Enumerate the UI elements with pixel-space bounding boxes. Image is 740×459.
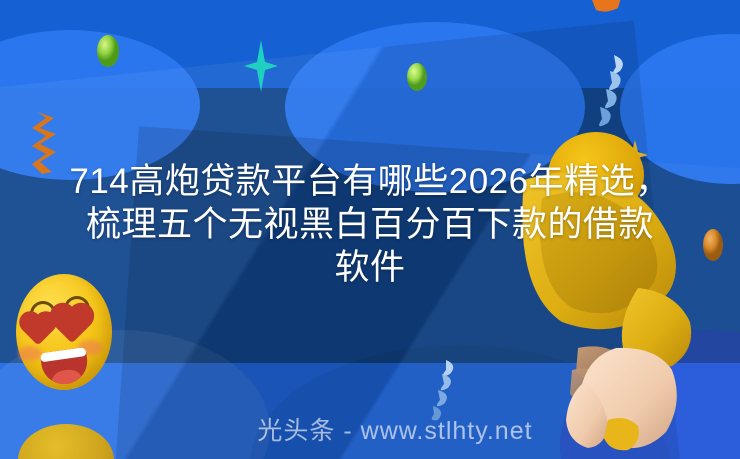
emoji-heart-eye-right bbox=[54, 307, 91, 344]
title-line-2: 梳理五个无视黑白百分百下款的借款 bbox=[0, 203, 740, 246]
heart-eyes-emoji bbox=[16, 274, 112, 390]
title-line-1: 714高炮贷款平台有哪些2026年精选， bbox=[0, 160, 740, 203]
title-line-3: 软件 bbox=[0, 246, 740, 289]
watermark: 光头条 - www.stlhty.net bbox=[0, 411, 740, 447]
emoji-teeth bbox=[40, 347, 87, 362]
emoji-blush-left bbox=[18, 346, 42, 361]
emoji-mouth bbox=[40, 347, 90, 387]
emoji-tongue bbox=[51, 368, 83, 387]
promo-poster: 714高炮贷款平台有哪些2026年精选， 梳理五个无视黑白百分百下款的借款 软件… bbox=[0, 0, 740, 459]
poster-title: 714高炮贷款平台有哪些2026年精选， 梳理五个无视黑白百分百下款的借款 软件 bbox=[0, 160, 740, 289]
